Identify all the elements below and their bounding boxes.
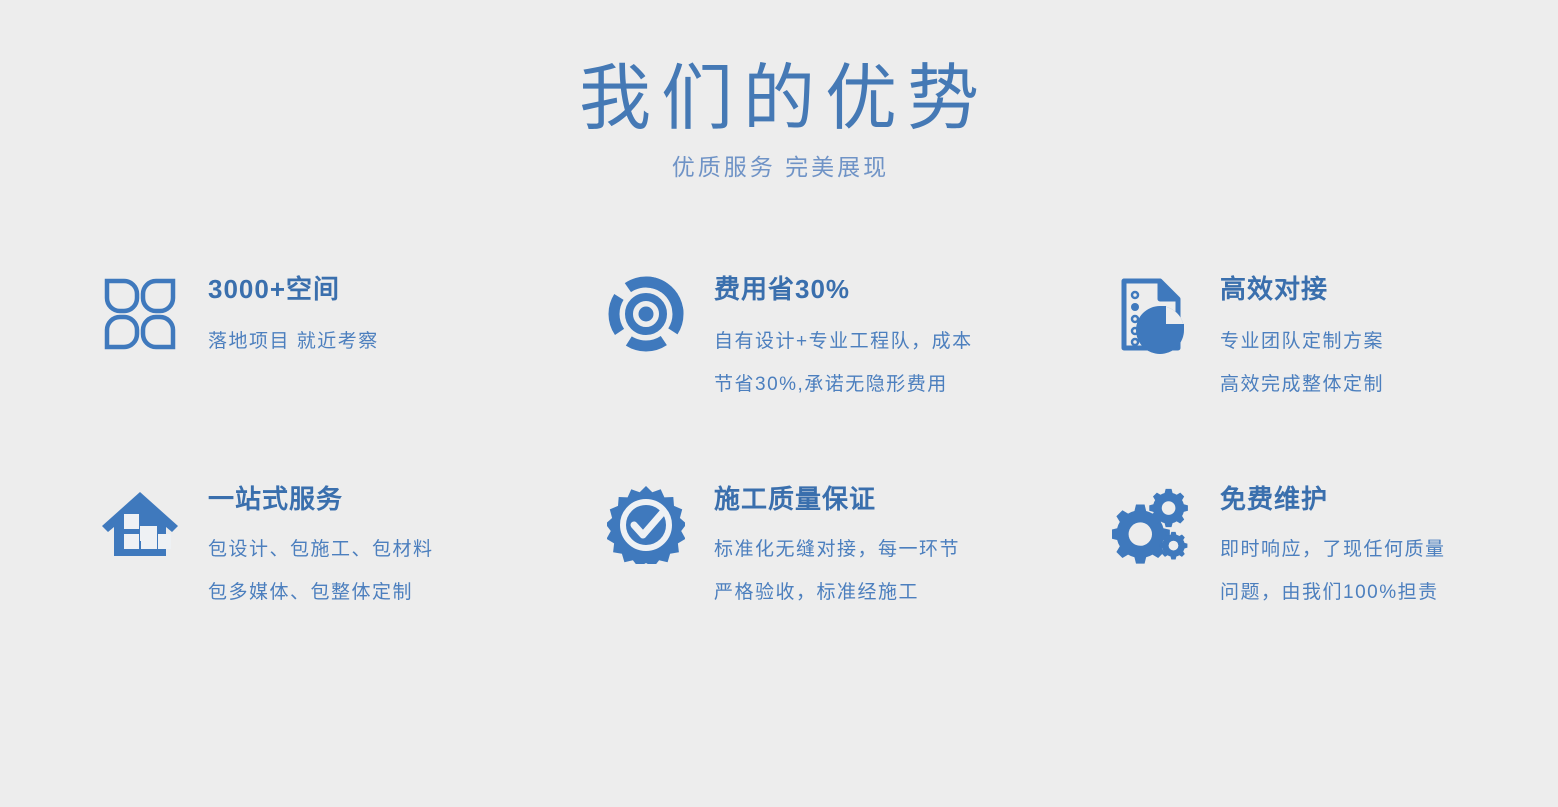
feature-desc-line: 即时响应，了现任何质量 [1220, 528, 1500, 571]
feature-title: 一站式服务 [208, 482, 606, 516]
feature-body: 一站式服务 包设计、包施工、包材料 包多媒体、包整体定制 [208, 482, 606, 614]
feature-desc-line: 严格验收，标准经施工 [714, 571, 1112, 614]
feature-item: 费用省30% 自有设计+专业工程队，成本 节省30%,承诺无隐形费用 [606, 272, 1112, 482]
feature-title: 施工质量保证 [714, 482, 1112, 516]
page-subtitle: 优质服务 完美展现 [0, 152, 1558, 182]
feature-desc-line: 节省30%,承诺无隐形费用 [714, 363, 1112, 406]
feature-title: 费用省30% [714, 272, 1112, 306]
feature-body: 费用省30% 自有设计+专业工程队，成本 节省30%,承诺无隐形费用 [714, 272, 1112, 406]
house-icon [100, 482, 180, 572]
gears-icon [1112, 482, 1192, 572]
badge-check-icon [606, 482, 686, 572]
feature-item: 免费维护 即时响应，了现任何质量 问题，由我们100%担责 [1112, 482, 1500, 692]
document-pie-chart-icon [1112, 272, 1192, 362]
feature-title: 高效对接 [1220, 272, 1500, 306]
feature-item: 一站式服务 包设计、包施工、包材料 包多媒体、包整体定制 [100, 482, 606, 692]
feature-desc-line: 自有设计+专业工程队，成本 [714, 320, 1112, 363]
slide-canvas: 我们的优势 优质服务 完美展现 3000+空间 落地项目 就近考察 [0, 0, 1558, 807]
feature-title: 3000+空间 [208, 272, 606, 306]
page-title: 我们的优势 [0, 56, 1558, 142]
feature-body: 3000+空间 落地项目 就近考察 [208, 272, 606, 363]
feature-body: 免费维护 即时响应，了现任何质量 问题，由我们100%担责 [1220, 482, 1500, 614]
target-icon [606, 272, 686, 362]
feature-item: 高效对接 专业团队定制方案 高效完成整体定制 [1112, 272, 1500, 482]
feature-desc-line: 专业团队定制方案 [1220, 320, 1500, 363]
feature-body: 施工质量保证 标准化无缝对接，每一环节 严格验收，标准经施工 [714, 482, 1112, 614]
feature-desc-line: 问题，由我们100%担责 [1220, 571, 1500, 614]
feature-item: 3000+空间 落地项目 就近考察 [100, 272, 606, 482]
feature-desc-line: 包多媒体、包整体定制 [208, 571, 606, 614]
four-petals-icon [100, 272, 180, 362]
feature-body: 高效对接 专业团队定制方案 高效完成整体定制 [1220, 272, 1500, 406]
feature-title: 免费维护 [1220, 482, 1500, 516]
feature-item: 施工质量保证 标准化无缝对接，每一环节 严格验收，标准经施工 [606, 482, 1112, 692]
feature-desc-line: 标准化无缝对接，每一环节 [714, 528, 1112, 571]
feature-desc-line: 包设计、包施工、包材料 [208, 528, 606, 571]
features-grid: 3000+空间 落地项目 就近考察 费用省30% 自有设计+专业工程队，成本 [100, 272, 1500, 692]
slide-header: 我们的优势 优质服务 完美展现 [0, 56, 1558, 182]
feature-desc-line: 落地项目 就近考察 [208, 320, 606, 363]
feature-desc-line: 高效完成整体定制 [1220, 363, 1500, 406]
